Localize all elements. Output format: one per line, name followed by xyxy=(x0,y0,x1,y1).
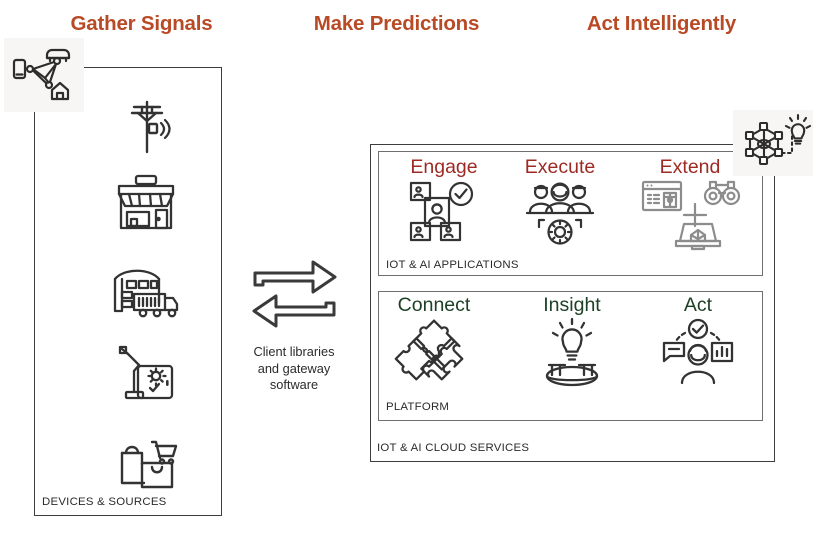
iot-ai-cloud-services-label: IOT & AI CLOUD SERVICES xyxy=(377,442,529,454)
capability-connect[interactable]: Connect xyxy=(374,294,494,389)
exchange-caption: Client libraries and gateway software xyxy=(228,344,360,394)
capability-engage[interactable]: Engage xyxy=(384,156,504,251)
capability-extend[interactable]: Extend xyxy=(630,156,750,251)
person-checkmark-chart-icon xyxy=(638,317,758,389)
connected-devices-network-icon xyxy=(4,38,84,112)
capability-act[interactable]: Act xyxy=(638,294,758,389)
capability-engage-title: Engage xyxy=(384,156,504,178)
ai-neural-network-insight-icon xyxy=(733,110,813,176)
capability-extend-title: Extend xyxy=(630,156,750,178)
dashboard-binoculars-laptop-icon xyxy=(630,179,750,251)
bidirectional-exchange-arrows-icon xyxy=(247,258,342,330)
warehouse-truck-icon xyxy=(110,263,182,319)
capability-act-title: Act xyxy=(638,294,758,316)
platform-label: PLATFORM xyxy=(386,401,449,413)
capability-execute-title: Execute xyxy=(500,156,620,178)
capability-insight[interactable]: Insight xyxy=(512,294,632,389)
exchange-caption-line-1: Client libraries xyxy=(228,344,360,361)
capability-connect-title: Connect xyxy=(374,294,494,316)
capability-insight-title: Insight xyxy=(512,294,632,316)
exchange-caption-line-3: software xyxy=(228,377,360,394)
iot-ai-applications-label: IOT & AI APPLICATIONS xyxy=(386,259,519,271)
retail-store-icon xyxy=(112,172,180,234)
utility-pole-antenna-icon xyxy=(116,96,178,158)
shopping-bag-cart-icon xyxy=(114,436,178,494)
lightbulb-table-icon xyxy=(512,317,632,389)
diagram-canvas: Gather Signals Make Predictions Act Inte… xyxy=(0,0,821,543)
column-title-gather-signals: Gather Signals xyxy=(0,12,283,36)
people-grid-approved-icon xyxy=(384,179,504,251)
column-title-make-predictions: Make Predictions xyxy=(255,12,538,36)
capability-execute[interactable]: Execute xyxy=(500,156,620,251)
team-gear-icon xyxy=(500,179,620,251)
devices-and-sources-label: DEVICES & SOURCES xyxy=(42,496,167,508)
column-title-act-intelligently: Act Intelligently xyxy=(520,12,803,36)
robotic-arm-icon xyxy=(115,344,179,406)
exchange-caption-line-2: and gateway xyxy=(228,361,360,378)
puzzle-diamond-icon xyxy=(374,317,494,389)
